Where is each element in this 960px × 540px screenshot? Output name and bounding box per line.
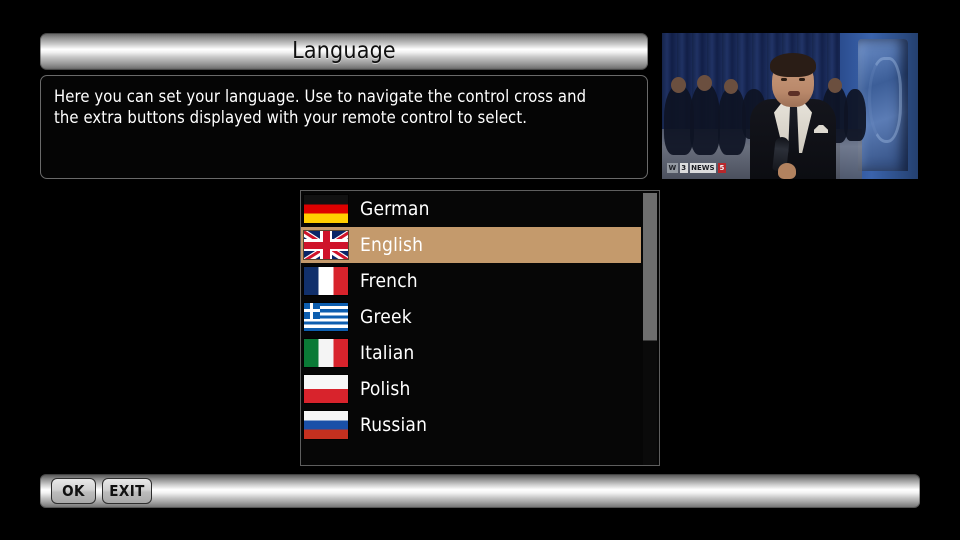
video-reporter-hand (778, 163, 796, 179)
list-scrollbar-thumb[interactable] (643, 193, 657, 341)
list-item-english[interactable]: English (301, 227, 641, 263)
list-scrollbar[interactable] (643, 193, 657, 465)
flag-germany-icon (304, 195, 348, 223)
list-item-french[interactable]: French (301, 263, 641, 299)
list-item-german[interactable]: German (301, 191, 641, 227)
video-crowd-figure (690, 83, 720, 155)
list-item-label: Russian (360, 414, 427, 436)
list-item-polish[interactable]: Polish (301, 371, 641, 407)
flag-russia-icon (304, 411, 348, 439)
video-reporter-hair (770, 53, 816, 77)
ok-button[interactable]: OK (51, 478, 96, 504)
channel-watermark: W 3 NEWS 5 (667, 162, 741, 174)
video-crowd-figure (844, 89, 866, 141)
list-item-greek[interactable]: Greek (301, 299, 641, 335)
watermark-part: 3 (680, 163, 688, 173)
list-item-italian[interactable]: Italian (301, 335, 641, 371)
list-item-label: English (360, 234, 423, 256)
video-crowd-head (671, 77, 686, 93)
video-crowd-head (724, 79, 738, 94)
language-list-rows: German English French (301, 191, 641, 443)
video-crowd-head (828, 78, 842, 93)
flag-italy-icon (304, 339, 348, 367)
watermark-part: 5 (718, 163, 726, 173)
page-title: Language (40, 37, 648, 66)
video-reporter-mouth (788, 91, 800, 96)
watermark-part: W (667, 163, 678, 173)
flag-unitedkingdom-icon (304, 231, 348, 259)
language-list[interactable]: German English French (300, 190, 660, 466)
list-item-label: Greek (360, 306, 412, 328)
video-reporter-eye (781, 78, 787, 81)
flag-france-icon (304, 267, 348, 295)
help-description-panel: Here you can set your language. Use to n… (40, 75, 648, 179)
list-item-label: French (360, 270, 418, 292)
flag-poland-icon (304, 375, 348, 403)
tv-settings-screen: Language Here you can set your language.… (0, 0, 960, 540)
action-bar: OK EXIT (40, 474, 920, 508)
video-reporter-eye (799, 78, 805, 81)
video-crowd-head (697, 75, 712, 91)
exit-button[interactable]: EXIT (102, 478, 152, 504)
flag-greece-icon (304, 303, 348, 331)
list-item-russian[interactable]: Russian (301, 407, 641, 443)
list-item-label: Italian (360, 342, 414, 364)
video-preview[interactable]: W 3 NEWS 5 (662, 33, 918, 179)
page-title-bar: Language (40, 33, 648, 70)
list-item-label: German (360, 198, 430, 220)
list-item-label: Polish (360, 378, 411, 400)
help-description-text: Here you can set your language. Use to n… (54, 86, 634, 128)
watermark-part: NEWS (690, 163, 716, 173)
